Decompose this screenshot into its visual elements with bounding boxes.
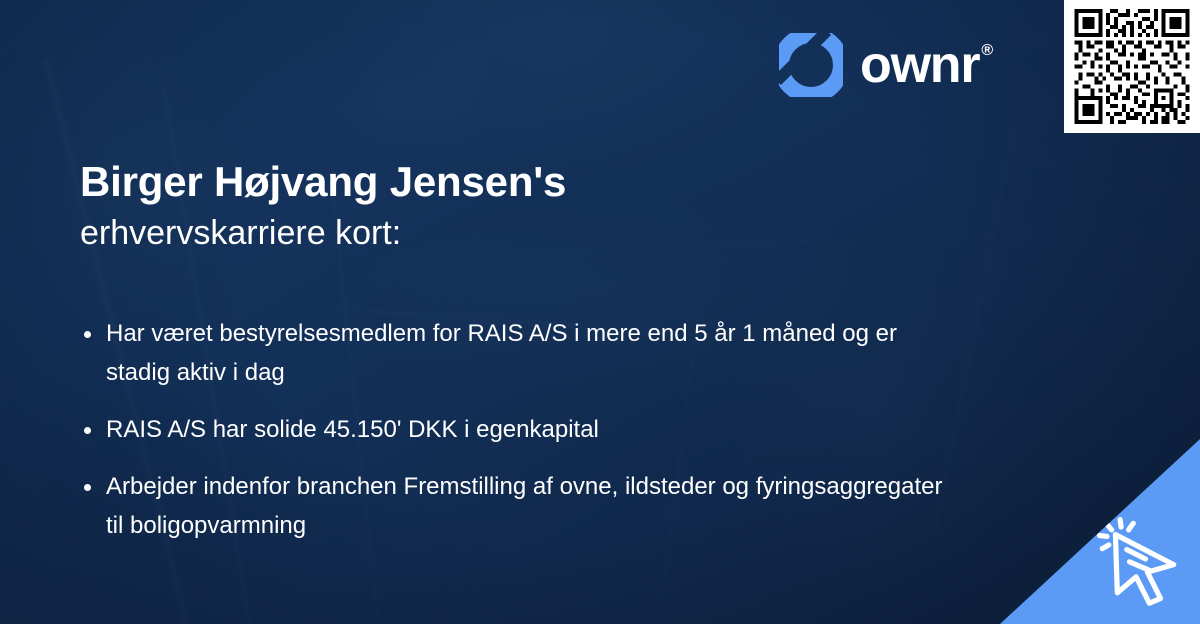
list-item: RAIS A/S har solide 45.150' DKK i egenka…	[80, 411, 960, 450]
headline-line-1: Birger Højvang Jensen's	[80, 158, 840, 205]
bullet-dot-icon	[84, 484, 91, 491]
qr-code-icon[interactable]	[1064, 0, 1200, 133]
list-item: Arbejder indenfor branchen Fremstilling …	[80, 468, 960, 546]
list-item-label: RAIS A/S har solide 45.150' DKK i egenka…	[106, 416, 599, 443]
registered-trademark-symbol: ®	[981, 43, 992, 59]
bullet-list: Har været bestyrelsesmedlem for RAIS A/S…	[80, 315, 960, 545]
list-item-label: Har været bestyrelsesmedlem for RAIS A/S…	[106, 320, 897, 386]
list-item-label: Arbejder indenfor branchen Fremstilling …	[106, 473, 942, 539]
list-item: Har været bestyrelsesmedlem for RAIS A/S…	[80, 315, 960, 393]
bullet-dot-icon	[84, 427, 91, 434]
ownr-wordmark: ownr ®	[860, 39, 992, 91]
headline-line-2: erhvervskarriere kort:	[80, 213, 840, 254]
bullet-dot-icon	[84, 331, 91, 338]
ownr-wordmark-text: ownr	[860, 39, 979, 91]
ownr-logo[interactable]: ownr ®	[779, 33, 992, 97]
share-card: ownr ®	[0, 0, 1200, 624]
headline: Birger Højvang Jensen's erhvervskarriere…	[80, 158, 840, 254]
ownr-circle-swoosh-icon	[779, 33, 843, 97]
